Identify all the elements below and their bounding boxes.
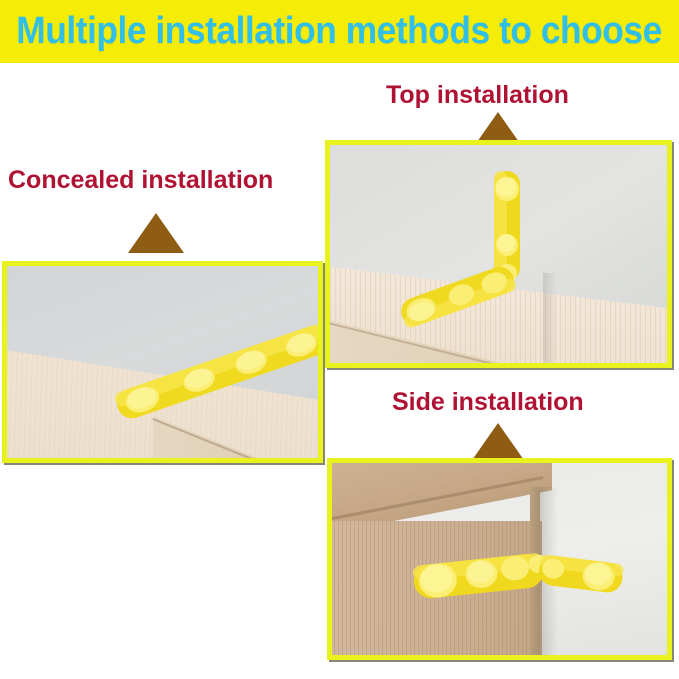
caption-side-installation: Side installation	[392, 388, 584, 417]
photo-content-concealed	[7, 266, 318, 458]
page-title: Multiple installation methods to choose	[17, 10, 663, 53]
side-installation-photo	[327, 458, 672, 660]
top-installation-photo	[325, 140, 672, 368]
safety-strap-side	[332, 463, 667, 655]
triangle-up-icon-concealed	[128, 213, 184, 253]
caption-concealed-installation: Concealed installation	[8, 166, 273, 195]
triangle-up-icon-side	[470, 423, 526, 463]
photo-content-side	[332, 463, 667, 655]
photo-content-top	[330, 145, 667, 363]
safety-strap-flat	[7, 266, 318, 458]
safety-strap-l-bracket	[330, 145, 667, 363]
concealed-installation-photo	[2, 261, 323, 463]
header-banner: Multiple installation methods to choose	[0, 0, 679, 63]
caption-top-installation: Top installation	[386, 81, 569, 110]
